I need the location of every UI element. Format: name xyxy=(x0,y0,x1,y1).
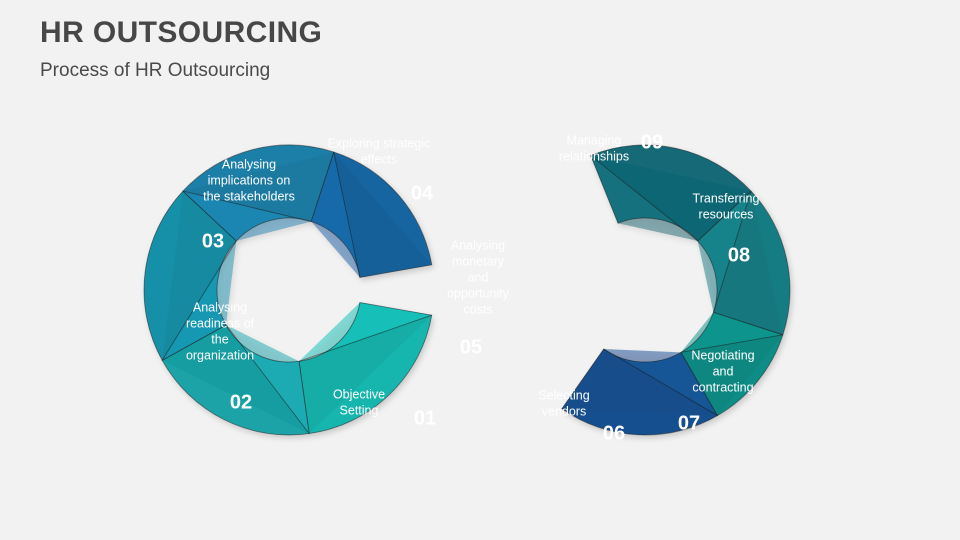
segment-07-label-line: and xyxy=(713,364,734,378)
segment-07-label-line: Negotiating xyxy=(691,348,754,362)
segment-02-number: 02 xyxy=(230,391,252,413)
right-donut-ring xyxy=(562,145,790,435)
segment-05-label-line: monetary xyxy=(452,254,505,268)
segment-05-number: 05 xyxy=(460,336,482,358)
segment-08-number: 08 xyxy=(728,244,750,266)
segment-02-label-line: organization xyxy=(186,348,254,362)
segment-01-label: ObjectiveSetting01 xyxy=(333,387,436,429)
segment-07-label-line: contracting xyxy=(692,380,753,394)
segment-03-number: 03 xyxy=(202,230,224,252)
segment-05-label-line: costs xyxy=(463,302,492,316)
segment-01-number: 01 xyxy=(414,407,436,429)
segment-06-number: 06 xyxy=(603,422,625,444)
segment-04-number: 04 xyxy=(411,182,434,204)
segment-03-label-line: the stakeholders xyxy=(203,189,295,203)
segment-08-label-line: resources xyxy=(699,207,754,221)
segment-04-label-line: effects xyxy=(361,152,398,166)
segment-02-label-line: the xyxy=(211,332,228,346)
segment-05-label-line: opportunity xyxy=(447,286,510,300)
segment-05-label-line: Analysing xyxy=(451,238,505,252)
segment-01-label-line: Setting xyxy=(340,403,379,417)
segment-06-label-line: Selecting xyxy=(538,388,589,402)
process-cycle-diagram: ObjectiveSetting01Analysingreadiness oft… xyxy=(0,0,960,540)
segment-02-label-line: Analysing xyxy=(193,300,247,314)
segment-08-label-line: Transferring xyxy=(693,191,760,205)
segment-05-label: Analysingmonetaryandopportunitycosts05 xyxy=(447,238,510,358)
segment-09-number: 09 xyxy=(641,131,663,153)
segment-03-label-line: Analysing xyxy=(222,157,276,171)
segment-09-label-line: relationships xyxy=(559,149,629,163)
segment-05-label-line: and xyxy=(468,270,489,284)
segment-04-label-line: Exploring strategic xyxy=(328,136,431,150)
segment-01-label-line: Objective xyxy=(333,387,385,401)
segment-03-label-line: implications on xyxy=(208,173,291,187)
segment-06-label-line: vendors xyxy=(542,404,586,418)
slide-canvas: HR OUTSOURCING Process of HR Outsourcing… xyxy=(0,0,960,540)
segment-07-number: 07 xyxy=(678,412,700,434)
segment-02-label-line: readiness of xyxy=(186,316,255,330)
segment-09-label-line: Managing xyxy=(567,133,622,147)
segment-05[interactable] xyxy=(311,152,432,277)
